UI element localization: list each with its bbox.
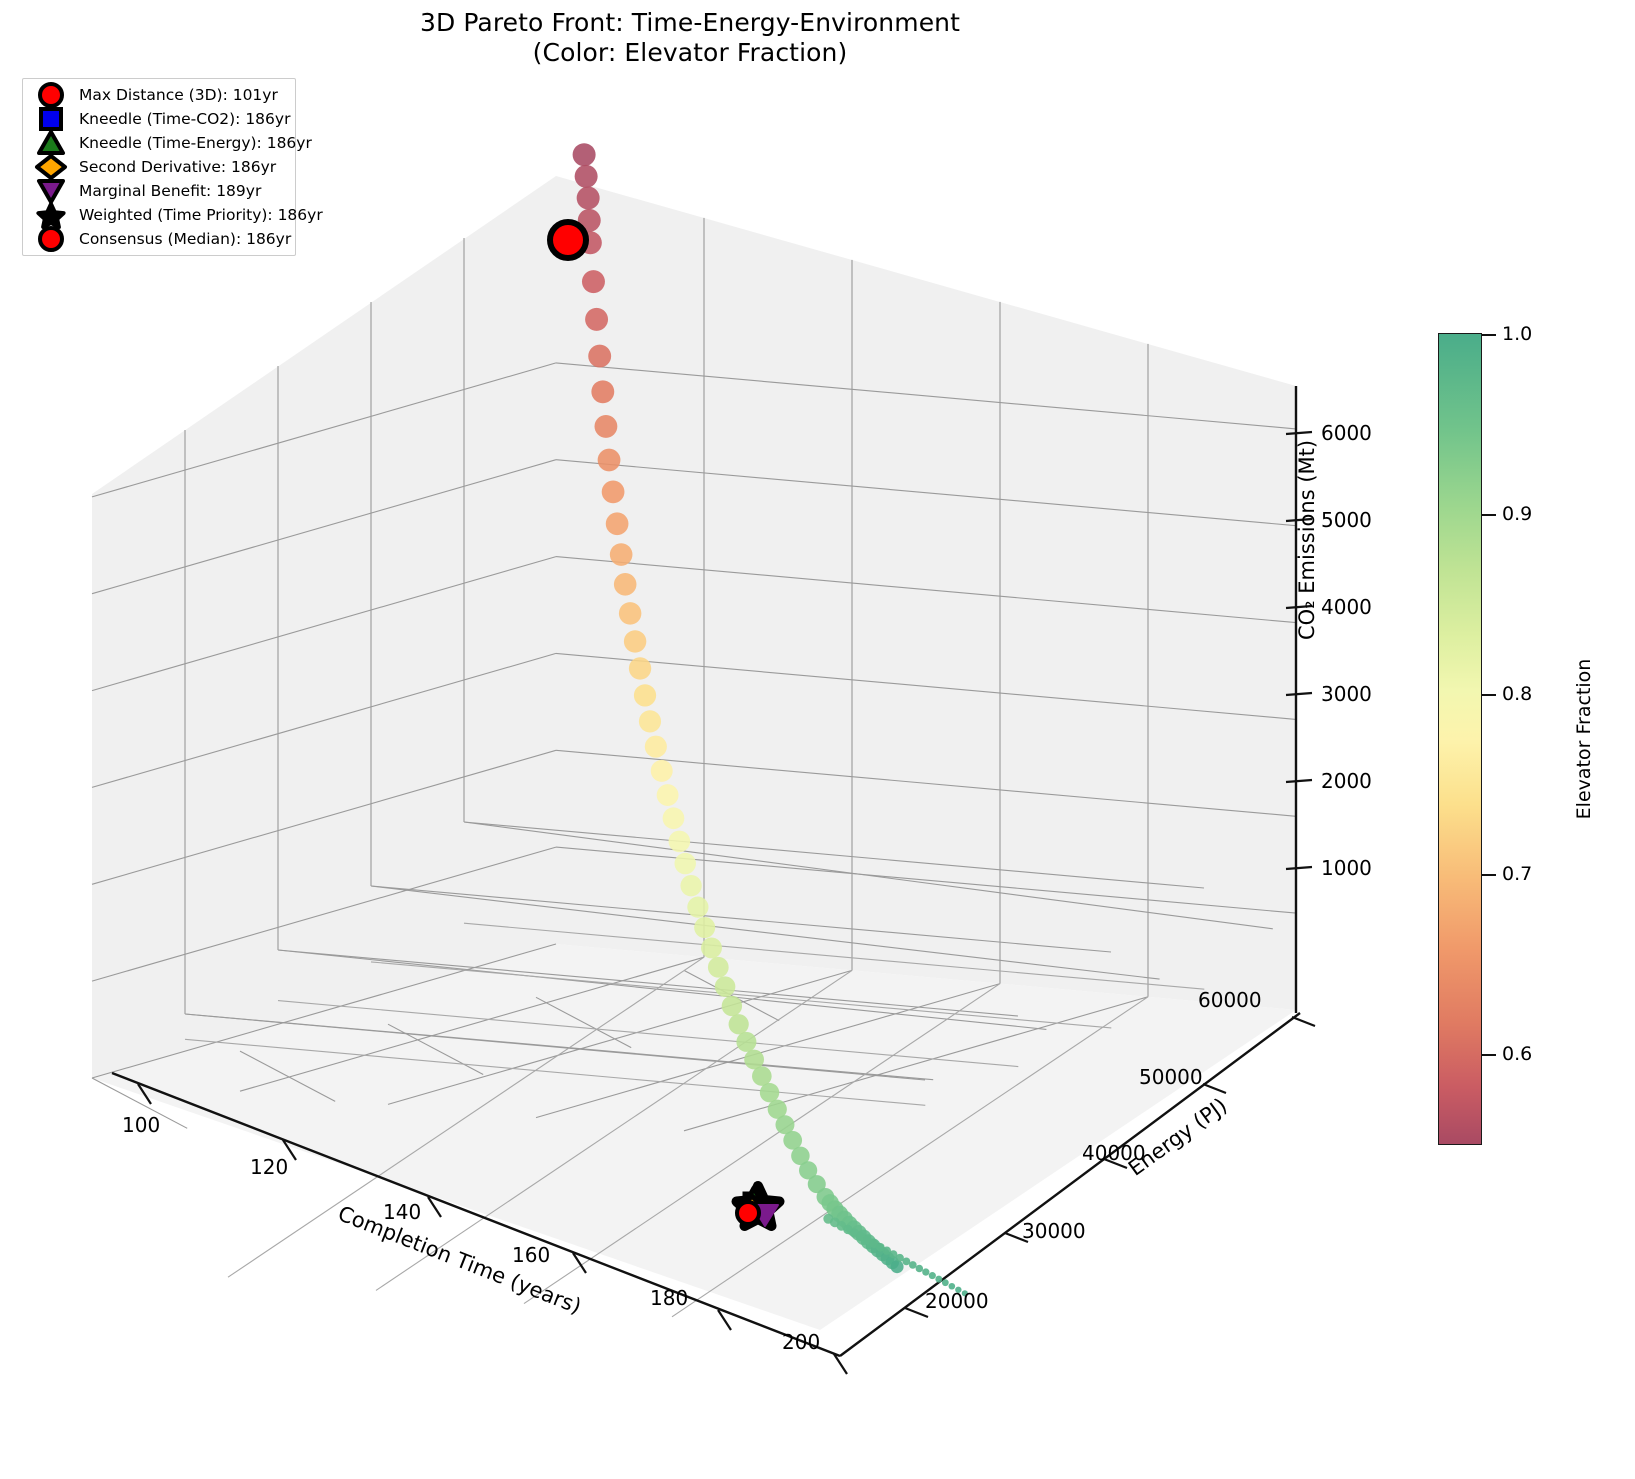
x-tick-label: 200 [782, 1330, 820, 1354]
legend-item-weighted-time-priority[interactable]: Weighted (Time Priority): 186yr [23, 203, 295, 227]
scatter-point [680, 875, 701, 896]
purple-triangle-marker-icon [33, 179, 69, 203]
scatter-point [606, 512, 629, 535]
scatter-point [582, 270, 605, 293]
colorbar-tick-label: 0.8 [1502, 683, 1532, 705]
scatter-point [595, 415, 618, 438]
scatter-point [610, 543, 633, 566]
y-tick-label: 30000 [1022, 1219, 1086, 1243]
scatter-point [663, 807, 685, 829]
y-tick-label: 20000 [925, 1289, 989, 1313]
scatter-point [909, 1261, 917, 1269]
legend-item-label: Marginal Benefit: 189yr [79, 182, 261, 200]
red-circle-marker-icon [33, 83, 69, 107]
scatter-point [722, 996, 742, 1016]
legend-item-label: Kneedle (Time-CO2): 186yr [79, 110, 290, 128]
colorbar: 1.0 0.9 0.8 0.7 0.6 Elevator Fraction [1438, 333, 1628, 1145]
blue-square-marker-icon [33, 107, 69, 131]
scatter-point [669, 831, 691, 853]
z-tick-label: 3000 [1321, 682, 1372, 706]
colorbar-tick [1482, 874, 1496, 876]
figure-canvas: 3D Pareto Front: Time-Energy-Environment… [0, 0, 1635, 1479]
scatter-point [935, 1276, 942, 1283]
legend-item-max-distance[interactable]: Max Distance (3D): 101yr [23, 83, 295, 107]
scatter-point [598, 449, 621, 472]
legend-item-label: Second Derivative: 186yr [79, 158, 276, 176]
x-tick-label: 160 [512, 1243, 550, 1267]
colorbar-tick-label: 0.6 [1502, 1043, 1532, 1065]
legend: Max Distance (3D): 101yr Kneedle (Time-C… [22, 78, 296, 256]
scatter-point [588, 345, 611, 368]
legend-item-label: Kneedle (Time-Energy): 186yr [79, 134, 312, 152]
scatter-point [585, 308, 608, 331]
legend-item-label: Weighted (Time Priority): 186yr [79, 206, 323, 224]
x-tick-label: 100 [122, 1113, 160, 1137]
scatter-point [602, 480, 625, 503]
scatter-point [736, 1032, 756, 1052]
scatter-point [729, 1014, 749, 1034]
scatter-point [577, 187, 600, 210]
colorbar-tick-label: 0.9 [1502, 503, 1532, 525]
scatter-point [645, 736, 667, 758]
colorbar-tick [1482, 694, 1496, 696]
highlight-marker-max-distance[interactable] [550, 222, 586, 258]
legend-item-kneedle-time-co2[interactable]: Kneedle (Time-CO2): 186yr [23, 107, 295, 131]
scatter-point [657, 784, 679, 806]
scatter-point [573, 143, 596, 166]
colorbar-gradient [1438, 333, 1482, 1145]
scatter-point [651, 760, 673, 782]
pane-left-wall [92, 176, 556, 1078]
scatter-point [752, 1066, 772, 1086]
black-star-marker-icon [33, 203, 69, 227]
highlight-marker-consensus[interactable] [737, 1202, 759, 1224]
legend-item-marginal-benefit[interactable]: Marginal Benefit: 189yr [23, 179, 295, 203]
colorbar-tick [1482, 334, 1496, 336]
legend-item-label: Max Distance (3D): 101yr [79, 86, 278, 104]
scatter-point [591, 380, 614, 403]
scatter-point [760, 1083, 779, 1102]
scatter-point [708, 957, 729, 978]
z-tick-label: 2000 [1321, 769, 1372, 793]
legend-item-second-derivative[interactable]: Second Derivative: 186yr [23, 155, 295, 179]
scatter-point [634, 684, 656, 706]
colorbar-tick [1482, 1054, 1496, 1056]
colorbar-tick-label: 1.0 [1502, 323, 1532, 345]
legend-item-kneedle-time-energy[interactable]: Kneedle (Time-Energy): 186yr [23, 131, 295, 155]
y-tick-label: 50000 [1139, 1065, 1203, 1089]
z-axis-title: CO₂ Emissions (Mt) [1295, 440, 1319, 640]
z-tick-label: 6000 [1321, 421, 1372, 445]
z-tick-label: 4000 [1321, 595, 1372, 619]
green-triangle-marker-icon [33, 131, 69, 155]
scatter-point [701, 937, 722, 958]
scatter-point [715, 976, 736, 997]
scatter-point [942, 1279, 949, 1286]
scatter-point [694, 917, 715, 938]
legend-item-label: Consensus (Median): 186yr [79, 230, 291, 248]
x-tick-label: 120 [250, 1155, 288, 1179]
orange-diamond-marker-icon [33, 155, 69, 179]
scatter-point [922, 1268, 929, 1275]
scatter-point [629, 657, 651, 679]
scatter-point [619, 602, 642, 625]
scatter-point [639, 710, 661, 732]
scatter-point [929, 1272, 936, 1279]
z-tick-label: 5000 [1321, 508, 1372, 532]
red-circle-marker-icon [33, 227, 69, 251]
colorbar-tick [1482, 514, 1496, 516]
scatter-point [614, 573, 637, 596]
scatter-point [891, 1260, 904, 1273]
scatter-point [916, 1265, 923, 1272]
x-tick-label: 180 [650, 1286, 688, 1310]
scatter-point [575, 165, 598, 188]
pane-right-wall [556, 176, 1296, 1010]
colorbar-tick-label: 0.7 [1502, 863, 1532, 885]
legend-item-consensus-median[interactable]: Consensus (Median): 186yr [23, 227, 295, 251]
scatter-point [674, 853, 695, 874]
scatter-point [624, 630, 646, 652]
z-tick-label: 1000 [1321, 856, 1372, 880]
scatter-point [902, 1257, 910, 1265]
colorbar-title: Elevator Fraction [1573, 659, 1595, 820]
y-tick-label: 60000 [1198, 988, 1262, 1012]
scatter-point [687, 897, 708, 918]
